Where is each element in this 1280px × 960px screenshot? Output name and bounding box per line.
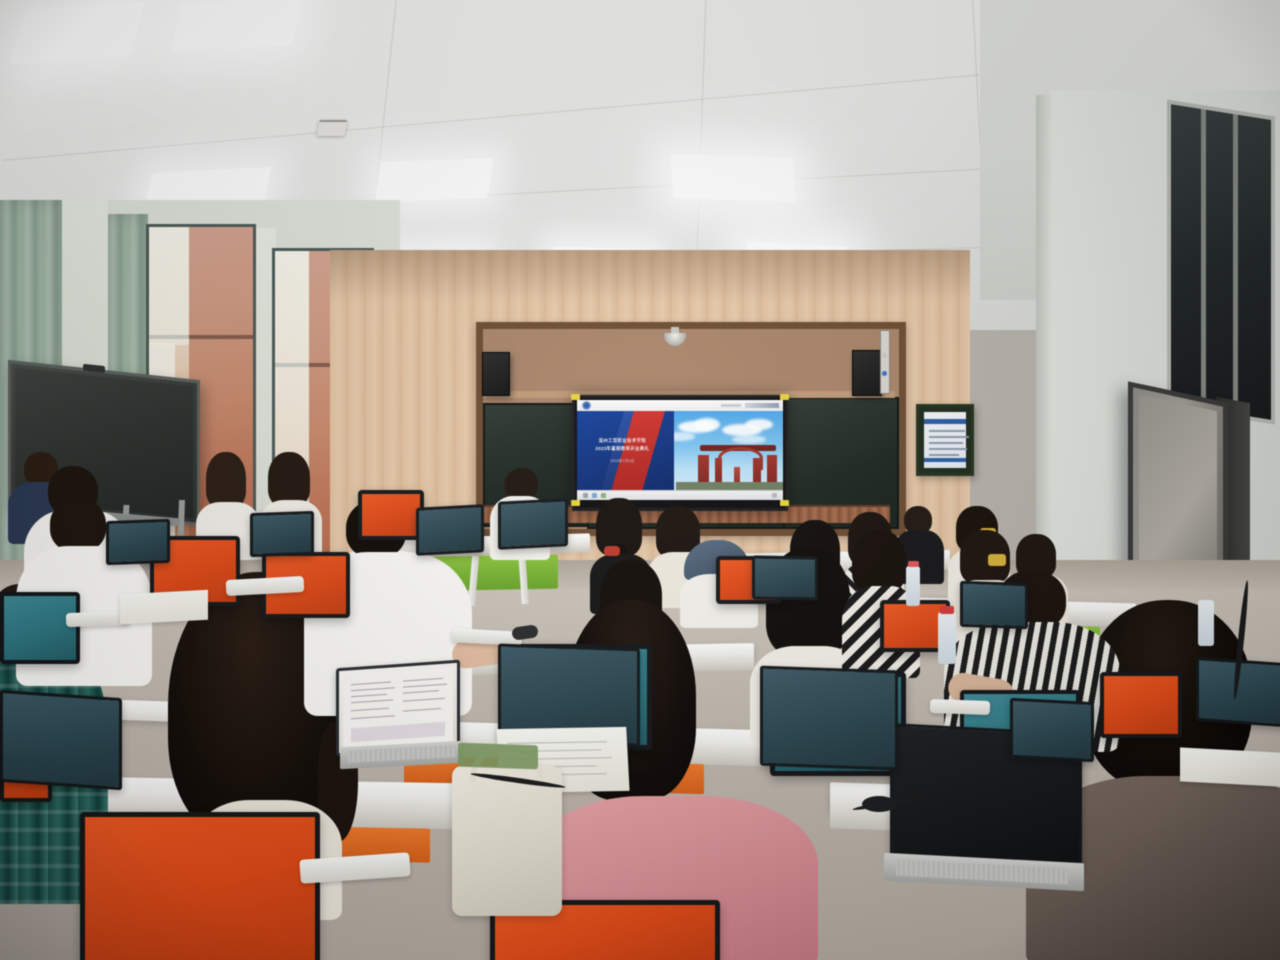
water-bottle (906, 566, 920, 606)
smoke-detector-icon (317, 120, 348, 136)
ceiling-light (670, 154, 795, 202)
water-bottle (938, 612, 956, 664)
windows-taskbar[interactable] (577, 490, 783, 500)
laptop-open[interactable] (960, 581, 1028, 629)
clerestory-window (1167, 99, 1275, 424)
slide-date-line: 2023年7月3日 (585, 458, 659, 463)
tote-bag (452, 766, 562, 916)
slide-title-line-2: 2023年暑期教师开业典礼 (585, 445, 659, 453)
institution-logo-icon (582, 401, 591, 410)
ceiling-light (375, 158, 494, 202)
bottle-cap (908, 561, 919, 567)
desk-mat (458, 743, 538, 770)
desk-grommet (862, 796, 896, 812)
hair-clip (988, 554, 1006, 566)
laptop-open[interactable] (0, 690, 122, 791)
framed-certificate (916, 404, 974, 476)
wall-speaker-right (852, 350, 882, 396)
laptop-open[interactable] (1010, 698, 1094, 762)
slide-title-line-1: 温州工贸职业技术学院 (585, 437, 659, 445)
ceiling-light (9, 2, 145, 64)
ceiling-light (172, 0, 303, 51)
laptop-open[interactable] (250, 511, 314, 557)
wall-control-strip[interactable] (880, 330, 890, 394)
slide-title-block: 温州工贸职业技术学院 2023年暑期教师开业典礼 2023年7月3日 (585, 437, 659, 464)
water-bottle (1198, 600, 1214, 646)
laptop-open[interactable] (498, 498, 568, 550)
laptop-open[interactable] (760, 666, 898, 771)
laptop-open[interactable] (106, 519, 170, 565)
laptop-open[interactable] (416, 504, 484, 556)
chair-orange[interactable] (80, 812, 320, 960)
papers (120, 590, 208, 625)
classroom-photo: 温州工贸职业技术学院 2023年暑期教师开业典礼 2023年7月3日 (0, 0, 1280, 960)
bottle-cap (940, 606, 954, 614)
chair-orange[interactable] (1100, 672, 1182, 738)
wall-speaker-left (482, 352, 510, 396)
chair-teal[interactable] (0, 592, 80, 664)
screen-corner-marker (571, 394, 580, 400)
campus-gate-illustration (696, 440, 778, 485)
wall-shadow (330, 250, 970, 302)
screen-corner-marker (780, 394, 789, 400)
laptop-open[interactable] (752, 555, 818, 600)
screen-corner-marker (780, 500, 789, 506)
screen-corner-marker (571, 500, 580, 506)
slide-canvas: 温州工贸职业技术学院 2023年暑期教师开业典礼 2023年7月3日 (577, 411, 783, 491)
chair-armrest (930, 699, 990, 715)
papers (1180, 747, 1280, 786)
interactive-flat-panel[interactable]: 温州工贸职业技术学院 2023年暑期教师开业典礼 2023年7月3日 (572, 395, 788, 511)
chair-orange[interactable] (358, 490, 424, 540)
